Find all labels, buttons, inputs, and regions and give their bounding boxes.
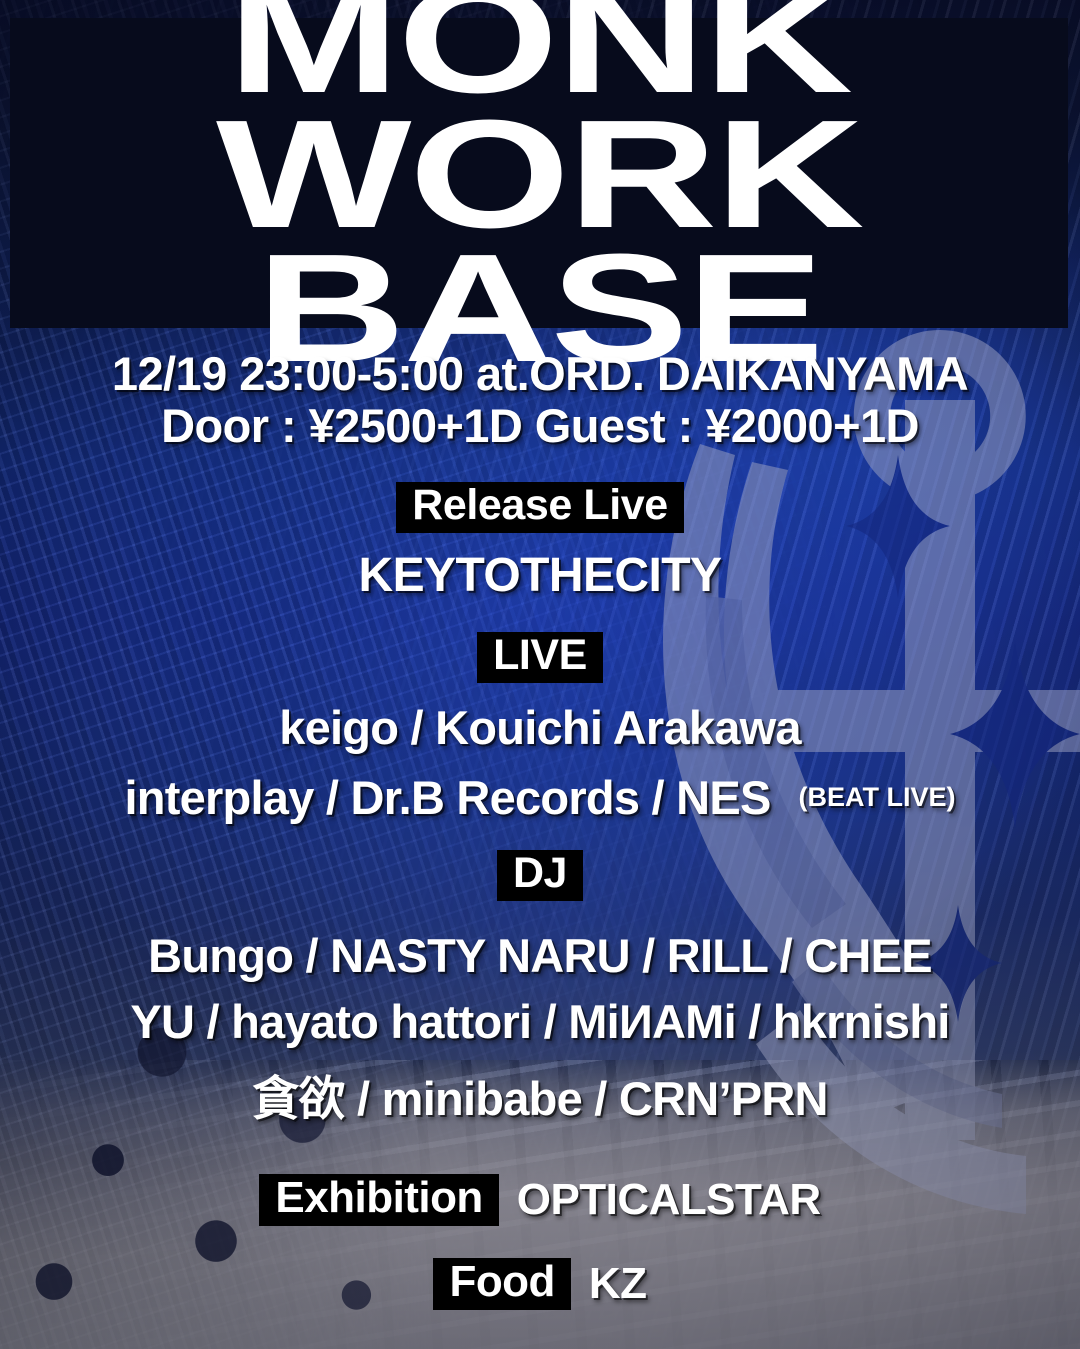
date-venue-text: 12/19 23:00-5:00 at.ORD. DAIKANYAMA <box>112 346 968 401</box>
live-lineup-row-2: interplay / Dr.B Records / NES (BEAT LIV… <box>0 770 1080 825</box>
food-value: KZ <box>589 1259 647 1309</box>
dj-heading-row: DJ <box>0 850 1080 901</box>
live-lineup-line-2: interplay / Dr.B Records / NES <box>124 770 770 825</box>
exhibition-label: Exhibition <box>259 1174 498 1226</box>
release-live-artist: KEYTOTHECITY <box>359 548 722 603</box>
price-row: Door : ¥2500+1D Guest : ¥2000+1D <box>0 398 1080 453</box>
food-label: Food <box>433 1258 570 1310</box>
dj-lineup-line-3: 貪欲 / minibabe / CRN’PRN <box>252 1060 827 1129</box>
poster-title-block: MONK WORK BASE <box>10 18 1068 328</box>
food-row: Food KZ <box>0 1258 1080 1310</box>
date-venue-row: 12/19 23:00-5:00 at.ORD. DAIKANYAMA <box>0 346 1080 401</box>
exhibition-row: Exhibition OPTICALSTAR <box>0 1174 1080 1226</box>
release-live-heading-row: Release Live <box>0 482 1080 533</box>
live-lineup-row-1: keigo / Kouichi Arakawa <box>0 700 1080 755</box>
release-live-heading: Release Live <box>396 482 683 533</box>
live-lineup-line-1: keigo / Kouichi Arakawa <box>279 700 801 755</box>
release-live-artist-row: KEYTOTHECITY <box>0 548 1080 603</box>
dj-lineup-line-1: Bungo / NASTY NARU / RILL / CHEE <box>148 928 932 983</box>
dj-lineup-row-1: Bungo / NASTY NARU / RILL / CHEE <box>0 928 1080 983</box>
dj-heading: DJ <box>497 850 583 901</box>
title-line-work: WORK <box>0 113 1080 236</box>
price-text: Door : ¥2500+1D Guest : ¥2000+1D <box>161 398 919 453</box>
dj-lineup-row-2: YU / hayato hattori / MiИAMi / hkrnishi <box>0 994 1080 1049</box>
live-beat-live-note: (BEAT LIVE) <box>799 782 956 813</box>
dj-lineup-row-3: 貪欲 / minibabe / CRN’PRN <box>0 1060 1080 1129</box>
live-heading: LIVE <box>477 632 603 683</box>
exhibition-value: OPTICALSTAR <box>517 1175 821 1225</box>
live-heading-row: LIVE <box>0 632 1080 683</box>
dj-lineup-line-2: YU / hayato hattori / MiИAMi / hkrnishi <box>130 994 949 1049</box>
event-flyer: MONK WORK BASE 12/19 23:00-5:00 at.ORD. … <box>0 0 1080 1349</box>
title-line-monk: MONK <box>0 0 1080 102</box>
